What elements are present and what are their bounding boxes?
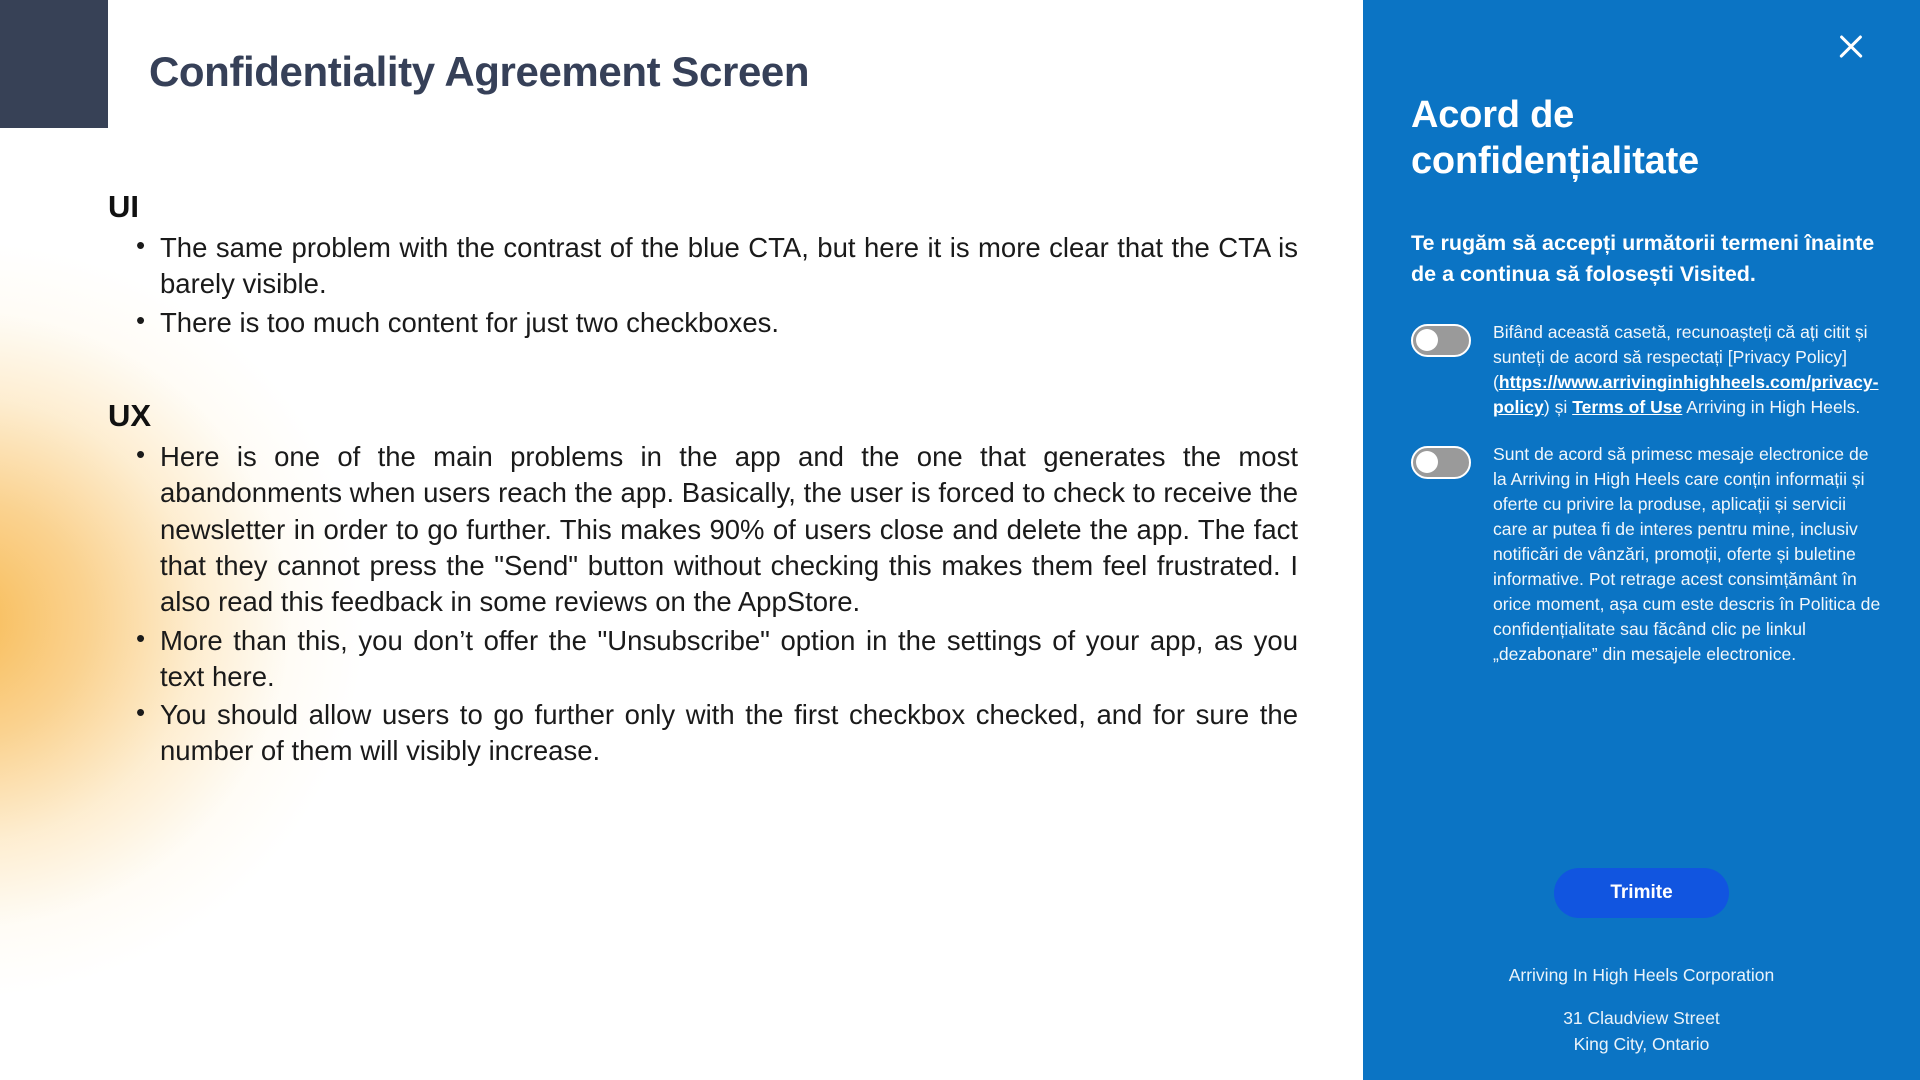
annotation-content: UI The same problem with the contrast of… bbox=[108, 190, 1298, 772]
marketing-consent-toggle[interactable] bbox=[1411, 446, 1471, 479]
term-row-marketing: Sunt de acord să primesc mesaje electron… bbox=[1411, 442, 1881, 667]
footer-address-line-2: King City, Ontario bbox=[1363, 1032, 1920, 1057]
list-item: More than this, you don’t offer the "Uns… bbox=[108, 623, 1298, 696]
decorative-corner-block bbox=[0, 0, 108, 128]
toggle-knob bbox=[1416, 329, 1438, 351]
terms-list: Bifând această casetă, recunoașteți că a… bbox=[1411, 320, 1881, 689]
footer-address-line-1: 31 Claudview Street bbox=[1363, 1006, 1920, 1031]
toggle-knob bbox=[1416, 451, 1438, 473]
list-item: The same problem with the contrast of th… bbox=[108, 230, 1298, 303]
ux-bullet-list: Here is one of the main problems in the … bbox=[108, 439, 1298, 770]
submit-button-container: Trimite bbox=[1363, 868, 1920, 918]
marketing-consent-text: Sunt de acord să primesc mesaje electron… bbox=[1493, 442, 1881, 667]
privacy-consent-text: Bifând această casetă, recunoașteți că a… bbox=[1493, 320, 1881, 420]
privacy-text-mid: ) și bbox=[1544, 397, 1572, 417]
modal-footer: Arriving In High Heels Corporation 31 Cl… bbox=[1363, 962, 1920, 1057]
terms-of-use-link[interactable]: Terms of Use bbox=[1572, 397, 1682, 417]
confidentiality-modal-panel: Acord de confidențialitate Te rugăm să a… bbox=[1363, 0, 1920, 1080]
privacy-text-tail: Arriving in High Heels. bbox=[1682, 397, 1860, 417]
modal-subtitle: Te rugăm să accepți următorii termeni în… bbox=[1411, 228, 1881, 289]
list-item: There is too much content for just two c… bbox=[108, 305, 1298, 341]
footer-company-name: Arriving In High Heels Corporation bbox=[1363, 962, 1920, 988]
page-title: Confidentiality Agreement Screen bbox=[149, 48, 809, 96]
slide-canvas: Confidentiality Agreement Screen UI The … bbox=[0, 0, 1920, 1080]
modal-title: Acord de confidențialitate bbox=[1411, 92, 1811, 185]
submit-button[interactable]: Trimite bbox=[1554, 868, 1728, 918]
section-heading-ux: UX bbox=[108, 399, 1298, 433]
privacy-consent-toggle[interactable] bbox=[1411, 324, 1471, 357]
ui-bullet-list: The same problem with the contrast of th… bbox=[108, 230, 1298, 341]
section-heading-ui: UI bbox=[108, 190, 1298, 224]
close-icon[interactable] bbox=[1834, 30, 1868, 64]
list-item: You should allow users to go further onl… bbox=[108, 697, 1298, 770]
term-row-privacy: Bifând această casetă, recunoașteți că a… bbox=[1411, 320, 1881, 420]
list-item: Here is one of the main problems in the … bbox=[108, 439, 1298, 620]
